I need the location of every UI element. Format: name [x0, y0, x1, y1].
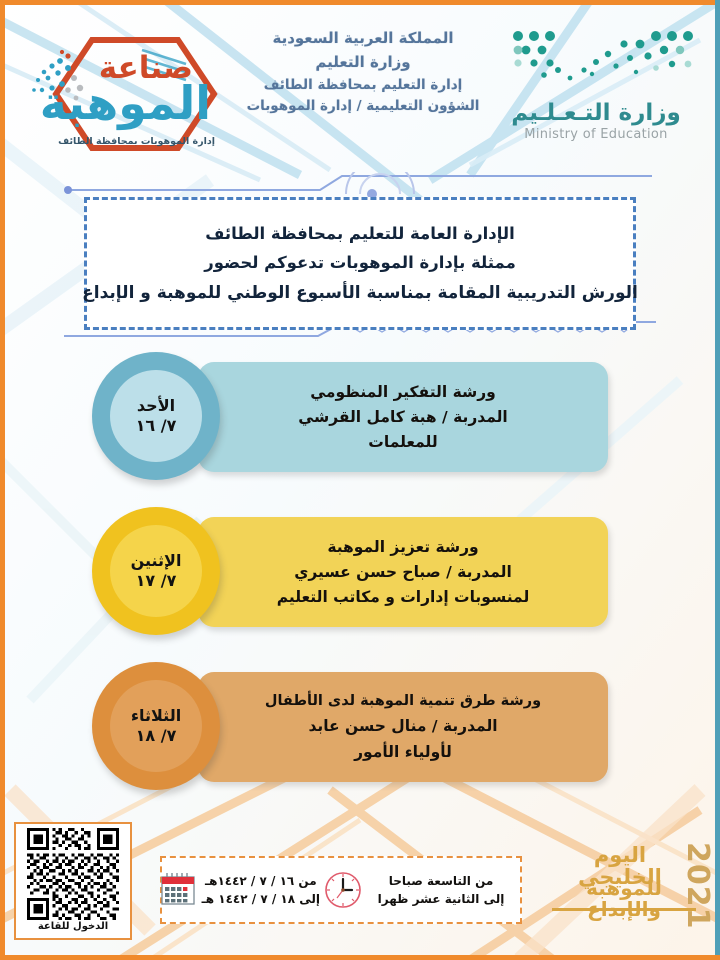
workshop-title-3: ورشة طرق تنمية الموهبة لدى الأطفال — [265, 693, 541, 710]
workshop-row-2: ورشة تعزيز الموهبة المدربة / صباح حسن عس… — [0, 507, 720, 647]
workshop-date-badge-3[interactable]: الثلاثاء ٧/ ١٨ — [92, 662, 220, 790]
moe-arabic-label: وزارة التـعـلـيم — [496, 100, 696, 126]
date-to: إلى ١٨ / ٧ / ١٤٤٢ هـ — [202, 890, 320, 908]
date-text-group: من ١٦ / ٧ / ١٤٤٢هـ إلى ١٨ / ٧ / ١٤٤٢ هـ — [202, 872, 320, 908]
workshop-date-3: ٧/ ١٨ — [136, 726, 177, 746]
badge-inner-3: الثلاثاء ٧/ ١٨ — [110, 680, 202, 772]
invitation-line-3: الورش التدريبية المقامة بمناسبة الأسبوع … — [82, 283, 638, 303]
workshop-date-badge-2[interactable]: الإثنين ٧/ ١٧ — [92, 507, 220, 635]
date-from: من ١٦ / ٧ / ١٤٤٢هـ — [202, 872, 320, 890]
frame-edge-bottom — [0, 955, 720, 960]
header-line-1: المملكة العربية السعودية — [232, 26, 494, 50]
schedule-info-box: من التاسعة صباحا إلى الثانية عشر ظهرا من… — [160, 856, 522, 924]
clock-icon-wrap — [320, 870, 366, 910]
moe-wordmark: وزارة التـعـلـيم Ministry of Education — [496, 100, 696, 142]
poster-header: صناعة الموهبة إدارة الموهوبات بمحافظة ال… — [0, 0, 720, 172]
time-from: من التاسعة صباحا — [366, 872, 516, 890]
qr-caption: الدخول للقاعة — [20, 921, 126, 932]
workshop-date-2: ٧/ ١٧ — [136, 571, 177, 591]
time-to: إلى الثانية عشر ظهرا — [366, 890, 516, 908]
ministry-of-education-logo: وزارة التـعـلـيم Ministry of Education — [496, 22, 706, 142]
workshop-day-3: الثلاثاء — [131, 706, 181, 726]
qr-code-icon[interactable] — [21, 828, 125, 920]
workshop-card-3[interactable]: ورشة طرق تنمية الموهبة لدى الأطفال المدر… — [198, 672, 608, 782]
workshop-card-2[interactable]: ورشة تعزيز الموهبة المدربة / صباح حسن عس… — [198, 517, 608, 627]
header-line-4: الشؤون التعليمية / إدارة الموهوبات — [232, 96, 494, 118]
workshop-date-badge-1[interactable]: الأحد ٧/ ١٦ — [92, 352, 220, 480]
clock-icon — [323, 870, 363, 910]
workshop-trainer-3: المدربة / منال حسن عابد — [308, 717, 497, 735]
time-text-group: من التاسعة صباحا إلى الثانية عشر ظهرا — [366, 872, 520, 908]
gulf-logo-line-2: للموهبة والإبداع — [552, 878, 696, 920]
mawhiba-word-main: الموهبة — [40, 80, 211, 126]
workshop-trainer-2: المدربة / صباح حسن عسيري — [294, 563, 512, 581]
frame-edge-top — [0, 0, 720, 5]
gulf-logo-underline — [552, 908, 696, 911]
workshop-row-3: ورشة طرق تنمية الموهبة لدى الأطفال المدر… — [0, 662, 720, 802]
workshop-trainer-1: المدربة / هبة كامل القرشي — [298, 408, 507, 426]
poster-canvas: صناعة الموهبة إدارة الموهوبات بمحافظة ال… — [0, 0, 720, 960]
moe-english-label: Ministry of Education — [496, 127, 696, 142]
workshop-card-1[interactable]: ورشة التفكير المنظومي المدربة / هبة كامل… — [198, 362, 608, 472]
calendar-icon — [157, 869, 199, 911]
invitation-panel: الإدارة العامة للتعليم بمحافظة الطائف مم… — [84, 197, 636, 330]
mawhiba-subtitle: إدارة الموهوبات بمحافظة الطائف — [58, 136, 215, 147]
calendar-icon-wrap — [154, 869, 202, 911]
header-authority-lines: المملكة العربية السعودية وزارة التعليم إ… — [232, 26, 494, 118]
workshop-day-2: الإثنين — [131, 551, 182, 571]
workshop-title-2: ورشة تعزيز الموهبة — [327, 538, 478, 556]
gulf-talent-day-logo: 2021 اليوم الخليجي للموهبة والإبداع — [528, 838, 706, 938]
header-line-2: وزارة التعليم — [232, 50, 494, 74]
badge-inner-1: الأحد ٧/ ١٦ — [110, 370, 202, 462]
qr-code-panel[interactable]: الدخول للقاعة — [14, 822, 132, 940]
workshop-audience-2: لمنسوبات إدارات و مكاتب التعليم — [277, 588, 530, 606]
mawhiba-logo: صناعة الموهبة إدارة الموهوبات بمحافظة ال… — [18, 28, 233, 160]
moe-dots-icon — [496, 22, 706, 98]
workshop-audience-1: للمعلمات — [368, 433, 437, 451]
invitation-line-2: ممثلة بإدارة الموهوبات تدعوكم لحضور — [204, 253, 516, 273]
workshop-title-1: ورشة التفكير المنظومي — [310, 383, 496, 401]
frame-edge-left — [0, 0, 5, 960]
workshop-row-1: ورشة التفكير المنظومي المدربة / هبة كامل… — [0, 352, 720, 492]
badge-inner-2: الإثنين ٧/ ١٧ — [110, 525, 202, 617]
header-line-3: إدارة التعليم بمحافظة الطائف — [232, 75, 494, 97]
workshop-day-1: الأحد — [137, 396, 175, 416]
workshop-date-1: ٧/ ١٦ — [136, 416, 177, 436]
invitation-line-1: الإدارة العامة للتعليم بمحافظة الطائف — [205, 224, 515, 244]
frame-edge-right — [715, 0, 720, 960]
workshop-audience-3: لأولياء الأمور — [354, 743, 452, 761]
